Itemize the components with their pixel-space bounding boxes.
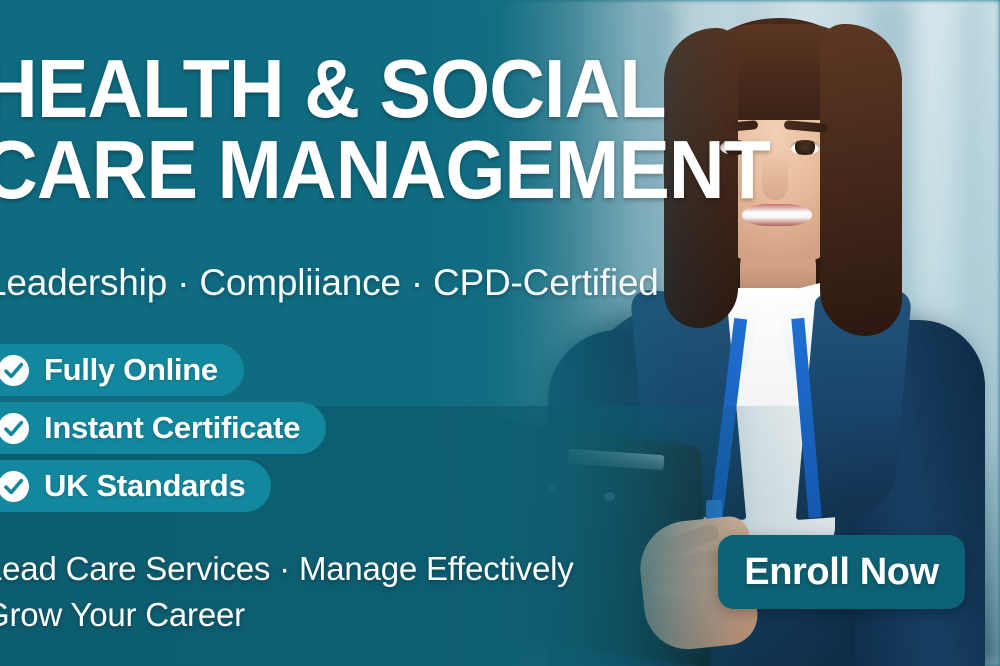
tagline: Lead Care Services · Manage Effectively …: [0, 546, 574, 637]
feature-pill-instant-certificate: Instant Certificate: [0, 402, 326, 454]
check-circle-icon: [0, 413, 29, 444]
feature-pill-label: UK Standards: [44, 468, 245, 504]
enroll-now-button[interactable]: Enroll Now: [718, 535, 965, 609]
enroll-now-label: Enroll Now: [744, 551, 938, 594]
check-circle-icon: [0, 471, 29, 502]
feature-pill-label: Instant Certificate: [44, 410, 300, 446]
headline-line-1: HEALTH & SOCIAL: [0, 48, 689, 129]
feature-pill-label: Fully Online: [44, 352, 218, 388]
check-circle-icon: [0, 355, 29, 386]
feature-pill-fully-online: Fully Online: [0, 344, 244, 396]
headline: HEALTH & SOCIAL CARE MANAGEMENT: [0, 48, 689, 211]
feature-pill-uk-standards: UK Standards: [0, 460, 271, 512]
tagline-line-2: Grow Your Career: [0, 592, 574, 638]
feature-pill-list: Fully Online Instant Certificate UK Stan…: [0, 344, 326, 512]
course-promo-banner: HEALTH & SOCIAL CARE MANAGEMENT Leadersh…: [0, 0, 1000, 666]
headline-line-2: CARE MANAGEMENT: [0, 129, 689, 210]
tagline-line-1: Lead Care Services · Manage Effectively: [0, 546, 574, 592]
banner-content: HEALTH & SOCIAL CARE MANAGEMENT Leadersh…: [0, 0, 1000, 666]
subheadline: Leadership · Compliiance · CPD-Certified: [0, 262, 659, 304]
